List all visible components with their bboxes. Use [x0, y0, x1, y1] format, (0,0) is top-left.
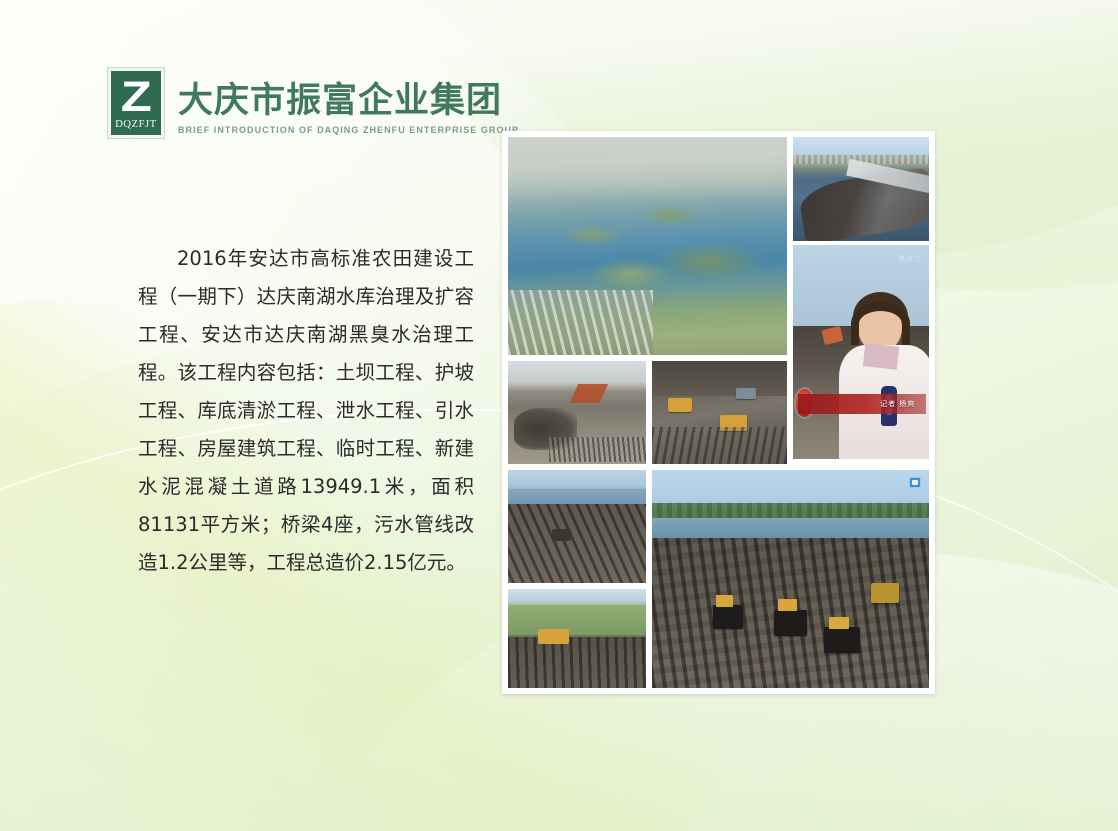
slide: Z DQZFJT 大庆市振富企业集团 BRIEF INTRODUCTION OF… [0, 0, 1118, 831]
panorama-machine-four [871, 583, 899, 603]
reporter-figure [839, 292, 929, 459]
collage-tile-tv-reporter-on-site: 黑龙江 记者 杨爽 [793, 245, 929, 459]
reporter-collar [863, 344, 900, 371]
collage-tile-river-dredging [508, 470, 646, 583]
grass-spoil-bank [508, 637, 646, 688]
logo-letter: Z [121, 77, 151, 117]
lower-third-caption: 记者 杨爽 [880, 399, 915, 409]
grass-field-band [508, 605, 646, 635]
company-name-english: BRIEF INTRODUCTION OF DAQING ZHENFU ENTE… [178, 125, 519, 135]
render-road-grid [508, 290, 653, 355]
photo-collage: 黑龙江 记者 杨爽 [502, 131, 935, 694]
brand-lockup: Z DQZFJT 大庆市振富企业集团 BRIEF INTRODUCTION OF… [108, 68, 519, 138]
project-description-paragraph: 2016年安达市高标准农田建设工程（一期下）达庆南湖水库治理及扩容工程、安达市达… [138, 240, 474, 582]
render-haze-overlay [508, 137, 787, 202]
lower-third-banner: 记者 杨爽 [798, 394, 926, 414]
excavator-arm [570, 384, 609, 403]
brand-text-block: 大庆市振富企业集团 BRIEF INTRODUCTION OF DAQING Z… [178, 68, 519, 135]
panorama-lake [652, 518, 929, 540]
collage-tile-site-panorama [652, 470, 929, 688]
slope-mud-texture [652, 427, 787, 464]
collage-tile-aerial-shore-construction [793, 137, 929, 241]
panorama-machine-three [824, 627, 860, 653]
video-source-badge-icon [909, 477, 921, 488]
collage-tile-bulldozers-on-slope [652, 361, 787, 464]
reporter-hair-outline [851, 302, 910, 345]
dozer-three [736, 388, 756, 399]
company-logo-icon: Z DQZFJT [108, 68, 164, 138]
grass-dozer-machine [538, 629, 568, 645]
collage-tile-lake-masterplan-render [508, 137, 787, 355]
river-dredged-spoil [508, 504, 646, 583]
river-dredger-machine [552, 529, 571, 541]
panorama-treeline [652, 503, 929, 518]
station-watermark-text: 黑龙江 [898, 254, 922, 264]
collage-tile-grassland-dozer [508, 589, 646, 688]
slope-ridge [652, 361, 787, 396]
dozer-one [668, 398, 692, 412]
panorama-machine-one [713, 605, 743, 629]
company-name-chinese: 大庆市振富企业集团 [178, 80, 519, 122]
collage-tile-excavator-demolition [508, 361, 646, 464]
excavator-track-marks [549, 437, 646, 462]
panorama-machine-two [774, 610, 807, 636]
